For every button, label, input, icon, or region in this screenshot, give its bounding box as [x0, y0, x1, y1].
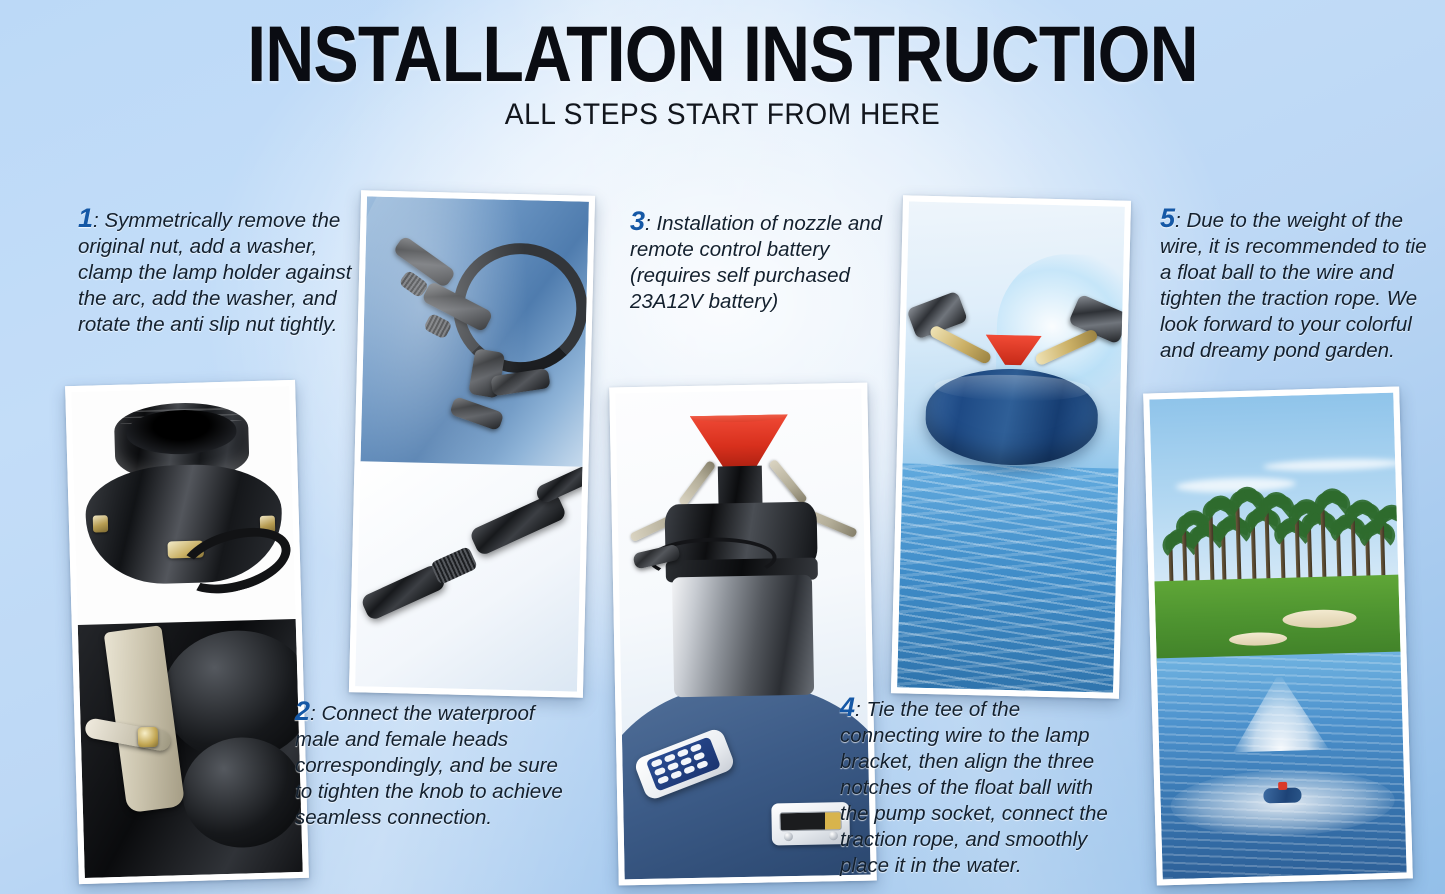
water-surface — [897, 464, 1118, 693]
step-5-text-block: 5: Due to the weight of the wire, it is … — [1160, 205, 1438, 364]
connector-knob-knurl — [430, 546, 478, 585]
step-2-photo-panel — [349, 190, 595, 698]
step-5-description: Due to the weight of the wire, it is rec… — [1160, 209, 1427, 362]
step-3-number: 3 — [630, 206, 645, 236]
step-4-description: Tie the tee of the connecting wire to th… — [840, 698, 1108, 877]
palm-tree — [1182, 519, 1188, 591]
step-2-text-block: 2: Connect the waterproof male and femal… — [295, 698, 580, 831]
palm-tree — [1235, 495, 1242, 589]
pump-housing-shape-2 — [181, 735, 302, 848]
connector-knurl-1 — [398, 270, 429, 299]
step-5-number: 5 — [1160, 203, 1175, 233]
cable-loop — [452, 242, 589, 375]
palm-tree — [1208, 504, 1214, 590]
connector-lower — [449, 396, 504, 431]
palm-tree — [1250, 515, 1256, 589]
battery-screw-left — [783, 832, 792, 841]
clamp-bracket-photo — [78, 619, 303, 878]
nozzle-and-remote-photo — [615, 389, 870, 880]
connector-right — [490, 368, 550, 396]
step-4-text-block: 4: Tie the tee of the connecting wire to… — [840, 694, 1110, 879]
step-1-photo-panel — [65, 380, 309, 884]
step-3-text-block: 3: Installation of nozzle and remote con… — [630, 208, 910, 315]
lamp-holder-nut-photo — [71, 386, 296, 630]
female-connector-head — [469, 491, 568, 556]
floating-fountain-unit — [1263, 787, 1301, 803]
sand-bunker-2 — [1229, 632, 1287, 647]
step-5-separator: : — [1175, 209, 1181, 232]
step-4-number: 4 — [840, 692, 855, 722]
step-1-text-block: 1: Symmetrically remove the original nut… — [78, 205, 354, 338]
blue-float-ring — [925, 367, 1099, 467]
page-subtitle: ALL STEPS START FROM HERE — [43, 98, 1401, 132]
mating-connector-photo — [355, 461, 582, 692]
step-4-photo-panel — [891, 195, 1131, 698]
step-1-number: 1 — [78, 203, 93, 233]
step-2-separator: : — [310, 702, 316, 725]
step-2-number: 2 — [295, 696, 310, 726]
tee-junction — [468, 348, 505, 398]
metal-bracket — [104, 626, 186, 814]
step-3-separator: : — [645, 212, 651, 235]
palm-tree — [1350, 508, 1356, 586]
battery-screw-right — [828, 831, 837, 840]
step-3-description: Installation of nozzle and remote contro… — [630, 212, 882, 313]
bracket-arm-right-2 — [768, 459, 808, 505]
step-1-separator: : — [93, 209, 99, 232]
header: INSTALLATION INSTRUCTION ALL STEPS START… — [0, 16, 1445, 132]
connector-middle — [421, 281, 493, 333]
step-2-description: Connect the waterproof male and female h… — [295, 702, 563, 829]
infographic-canvas: INSTALLATION INSTRUCTION ALL STEPS START… — [0, 0, 1445, 894]
connector-upper — [392, 235, 456, 288]
battery-compartment[interactable] — [771, 802, 850, 845]
pond-water — [1157, 652, 1407, 880]
palm-tree — [1380, 513, 1386, 585]
sand-bunker-1 — [1282, 609, 1356, 629]
sky — [1149, 393, 1398, 592]
brass-nut — [137, 727, 158, 748]
brass-screw-left — [93, 515, 108, 532]
page-title: INSTALLATION INSTRUCTION — [101, 16, 1344, 92]
connector-knurl-2 — [423, 312, 453, 339]
brass-arm-left — [928, 324, 992, 365]
step-4-separator: : — [855, 698, 861, 721]
bracket-arm-left-2 — [678, 460, 716, 507]
step-3-photo-panel — [609, 383, 877, 886]
waterproof-connector-photo — [360, 196, 589, 471]
battery-cell — [779, 811, 841, 831]
float-ball-in-water-photo — [897, 201, 1125, 692]
step-1-description: Symmetrically remove the original nut, a… — [78, 209, 352, 336]
stainless-pump-body — [672, 574, 814, 697]
step-5-photo-panel — [1143, 387, 1413, 886]
